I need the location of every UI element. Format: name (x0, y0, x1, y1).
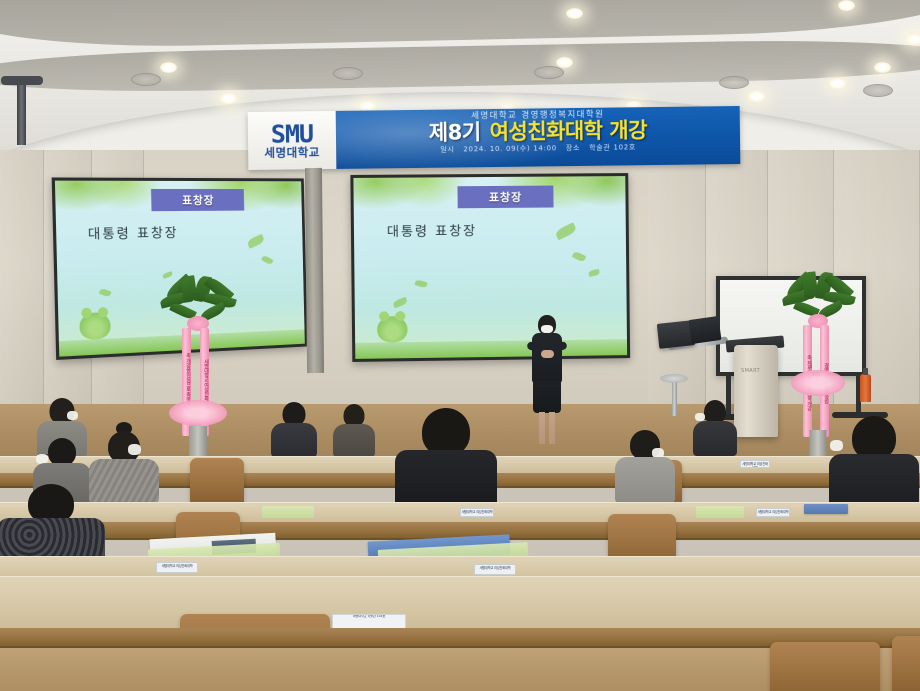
desk-pad (696, 506, 744, 518)
banner-main: 세명대학교 경영행정복지대학원 제8기 여성친화대학 개강 일시 2024. 1… (336, 106, 741, 169)
ceiling-downlight (566, 8, 583, 19)
electronic-podium (734, 345, 778, 437)
presenter-leg (549, 412, 555, 444)
banner-info-line: 일시 2024. 10. 09(수) 14:00 장소 학술관 102호 (437, 145, 639, 155)
presenter-leg (539, 412, 545, 444)
desk-nameplate: 세명대학교 여성친화대학 (756, 508, 790, 517)
stand-pot (189, 426, 207, 456)
slide-frog-decoration (377, 316, 407, 342)
audience-member (692, 400, 738, 456)
presenter-hands (541, 350, 554, 358)
slide-header-badge: 표창장 (151, 189, 244, 211)
slide-body-text: 대통령 표창장 (88, 222, 179, 243)
person-torso (693, 421, 737, 456)
stand-pot (810, 430, 827, 458)
face-mask-icon (695, 413, 705, 421)
person-torso (333, 424, 375, 457)
audience-member (394, 408, 498, 504)
chair (892, 636, 920, 691)
ceiling-projector-mount (17, 83, 26, 145)
fire-extinguisher-icon (860, 374, 871, 402)
ceiling-vent (719, 76, 749, 89)
banner-date-label: 일시 (440, 146, 454, 154)
ceiling-vent (863, 84, 893, 97)
podium-brand-label: SMART (741, 368, 760, 374)
ceiling-vent (333, 67, 363, 80)
banner-place-value: 학술관 102호 (589, 144, 636, 153)
logo-mark: SMU (271, 121, 313, 147)
desk-nameplate: 세명대학교 여성친화대학 (740, 460, 770, 468)
event-banner: SMU 세명대학교 세명대학교 경영행정복지대학원 제8기 여성친화대학 개강 … (248, 106, 741, 170)
face-mask-icon (541, 325, 553, 333)
ceiling-downlight (829, 78, 846, 89)
person-torso (395, 450, 497, 506)
slide-frog-decoration (79, 312, 111, 340)
desk-nameplate: 세명대학교 여성친화대학 (156, 562, 198, 573)
stool-post (672, 382, 677, 416)
banner-title: 제8기 여성친화대학 개강 (429, 120, 647, 144)
banner-title-main: 여성친화대학 개강 (489, 120, 647, 143)
university-logo: SMU 세명대학교 (248, 111, 337, 170)
face-mask-icon (830, 440, 843, 451)
audience-member (614, 430, 676, 502)
ceiling-downlight (906, 34, 920, 45)
ceiling-downlight (748, 91, 765, 102)
ceiling-downlight (220, 93, 237, 104)
slide-right: 표창장 대통령 표창장 (353, 176, 627, 359)
person-torso (615, 457, 675, 503)
ribbon-puff (791, 370, 845, 396)
ceiling-vent (534, 66, 564, 79)
wall-column (305, 168, 324, 373)
presenter-skirt (533, 381, 561, 413)
ceiling-downlight (160, 62, 177, 73)
person-head (48, 438, 76, 466)
face-mask-icon (128, 444, 141, 455)
slide-body-text: 대통령 표창장 (387, 220, 477, 240)
chair (190, 458, 244, 504)
ceiling-downlight (556, 57, 573, 68)
lecture-hall-photo: SMU 세명대학교 세명대학교 경영행정복지대학원 제8기 여성친화대학 개강 … (0, 0, 920, 691)
audience-member (332, 404, 376, 456)
ceiling-downlight (838, 0, 855, 11)
chair (770, 642, 880, 691)
lecture-monitor-secondary (688, 316, 721, 344)
face-mask-icon (67, 411, 78, 420)
audience-member (270, 402, 318, 456)
ribbon-puff (169, 400, 227, 426)
desk-pad (262, 506, 314, 518)
flower-stand-left: 축 개강을 진심으로 축하합니다 세명대학교 여성친화대학 (160, 276, 236, 466)
ceiling-accent-band-lower (0, 37, 920, 95)
banner-title-prefix: 제8기 (429, 123, 481, 145)
slide-header-badge: 표창장 (457, 186, 553, 209)
desk-nameplate: 세명대학교 여성친화대학 (460, 508, 494, 517)
ceiling-downlight (874, 62, 891, 73)
file-folder (804, 504, 848, 514)
projection-screen-right: 표창장 대통령 표창장 (350, 173, 630, 362)
desk-surface (0, 576, 920, 628)
presenter-torso (532, 333, 562, 383)
ceiling-vent (131, 73, 161, 86)
desk-nameplate: 세명대학교 여성친화대학 (474, 564, 516, 575)
banner-date-value: 2024. 10. 09(수) 14:00 (463, 145, 557, 154)
person-head (422, 408, 470, 456)
audience-member (828, 416, 920, 508)
person-torso (271, 423, 317, 457)
logo-name: 세명대학교 (264, 147, 320, 159)
presenter-figure (527, 315, 567, 445)
banner-place-label: 장소 (566, 144, 580, 152)
